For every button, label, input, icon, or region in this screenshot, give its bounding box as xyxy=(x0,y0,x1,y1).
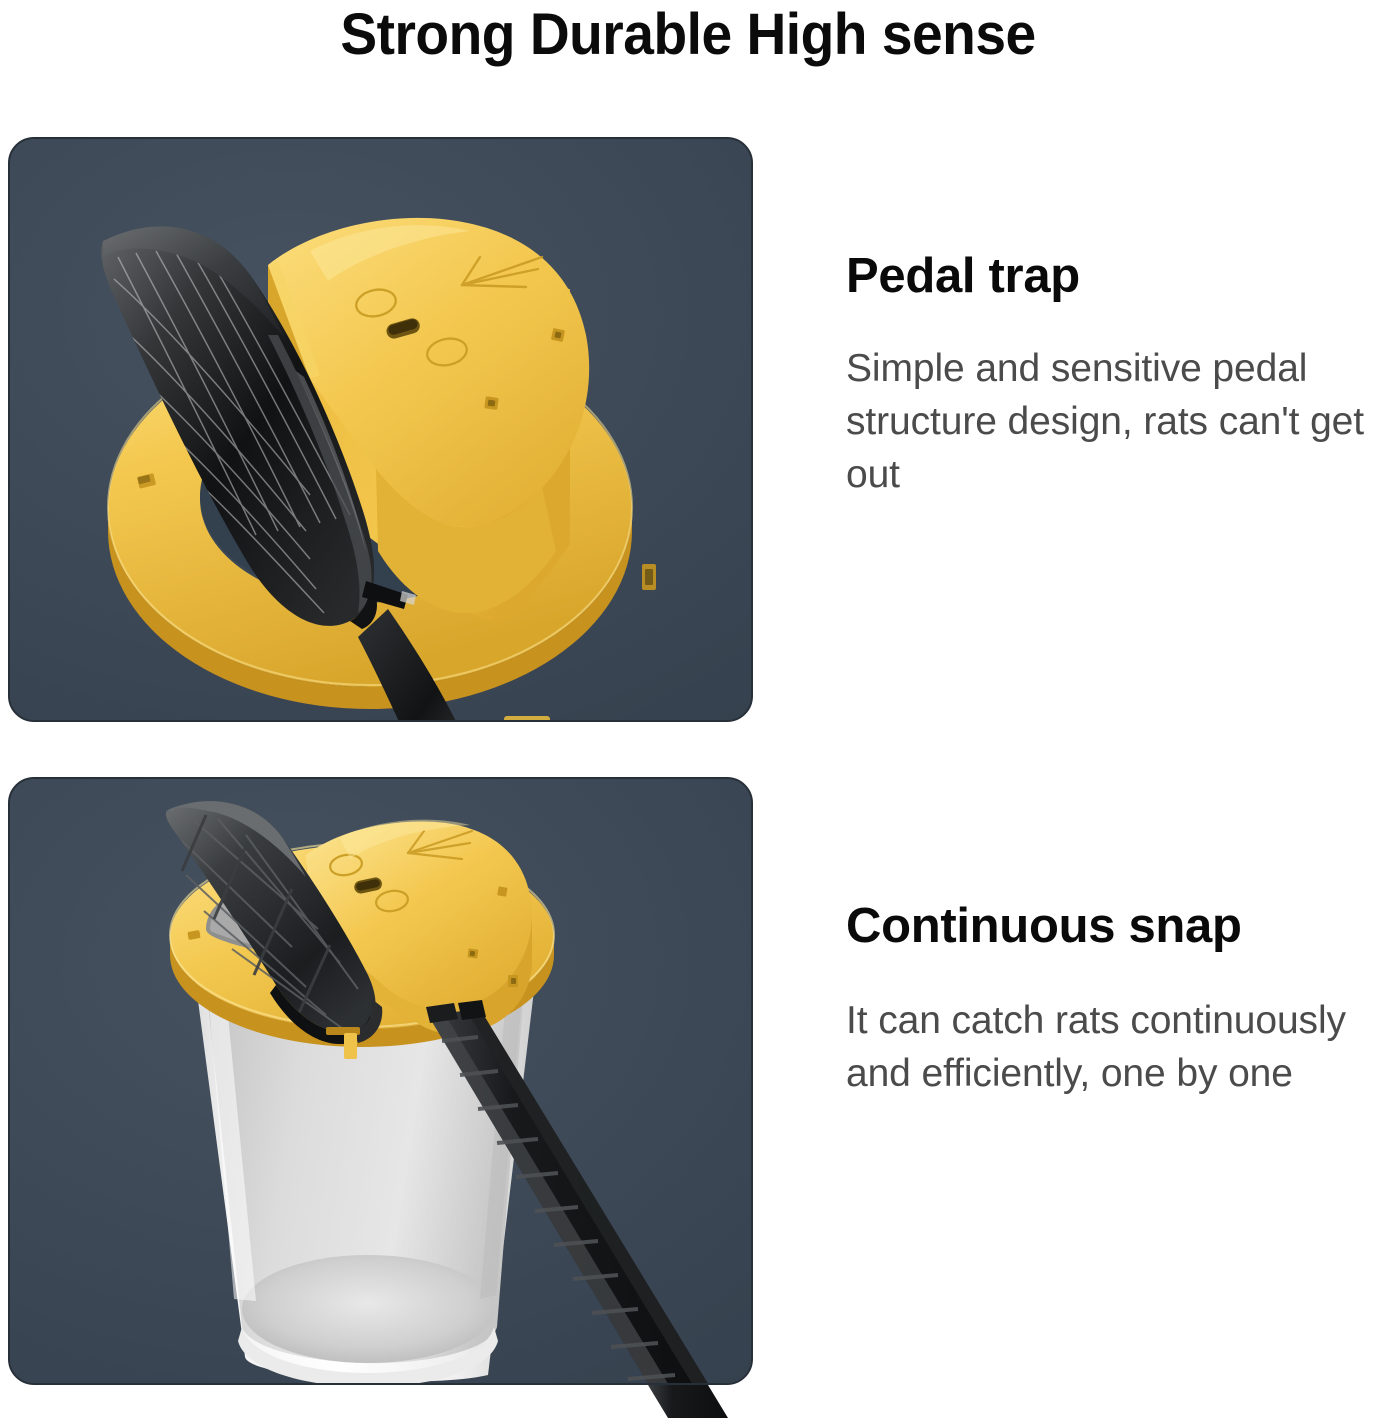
panel-1-clip xyxy=(10,139,751,720)
pedal-trap-product-image xyxy=(10,139,751,720)
feature-1-body: Simple and sensitive pedal structure des… xyxy=(846,342,1376,501)
feature-1-heading: Pedal trap xyxy=(846,248,1376,304)
feature-text-2: Continuous snap It can catch rats contin… xyxy=(846,898,1376,1100)
feature-2-heading: Continuous snap xyxy=(846,898,1376,954)
feature-text-1: Pedal trap Simple and sensitive pedal st… xyxy=(846,248,1376,501)
feature-image-panel-2 xyxy=(8,777,753,1385)
feature-image-panel-1 xyxy=(8,137,753,722)
page-title: Strong Durable High sense xyxy=(34,2,1341,68)
panel-2-clip xyxy=(10,779,751,1383)
feature-2-body: It can catch rats continuously and effic… xyxy=(846,994,1376,1100)
continuous-snap-product-image xyxy=(10,779,751,1383)
product-infographic: Strong Durable High sense xyxy=(0,0,1376,1418)
